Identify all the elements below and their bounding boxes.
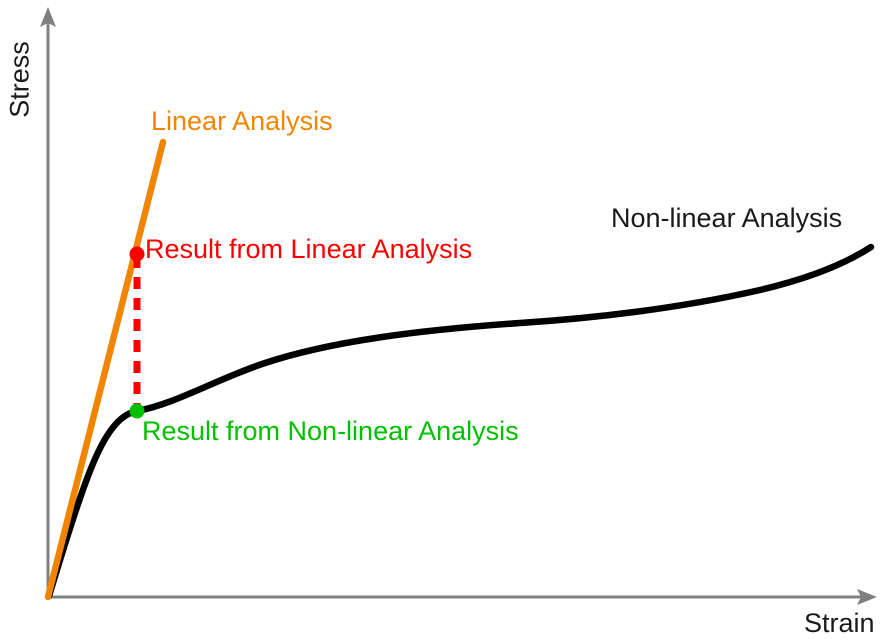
series-line-linear-analysis bbox=[48, 142, 163, 597]
series-label-linear-analysis: Linear Analysis bbox=[151, 108, 333, 135]
annotation-result-from-non-linear-analysis: Result from Non-linear Analysis bbox=[142, 418, 519, 445]
y-axis-label-text: Stress bbox=[7, 28, 34, 132]
annotation-result-from-linear-analysis: Result from Linear Analysis bbox=[145, 236, 472, 263]
stress-strain-chart: Stress Strain Linear Analysis Non-linear… bbox=[0, 0, 888, 644]
result-linear-marker[interactable] bbox=[130, 247, 145, 262]
chart-canvas bbox=[0, 0, 888, 644]
series-label-non-linear-analysis: Non-linear Analysis bbox=[611, 205, 842, 232]
x-axis bbox=[48, 589, 877, 605]
y-axis bbox=[40, 7, 56, 597]
y-axis-label: Stress bbox=[0, 22, 40, 132]
x-axis-label: Strain bbox=[804, 610, 875, 637]
